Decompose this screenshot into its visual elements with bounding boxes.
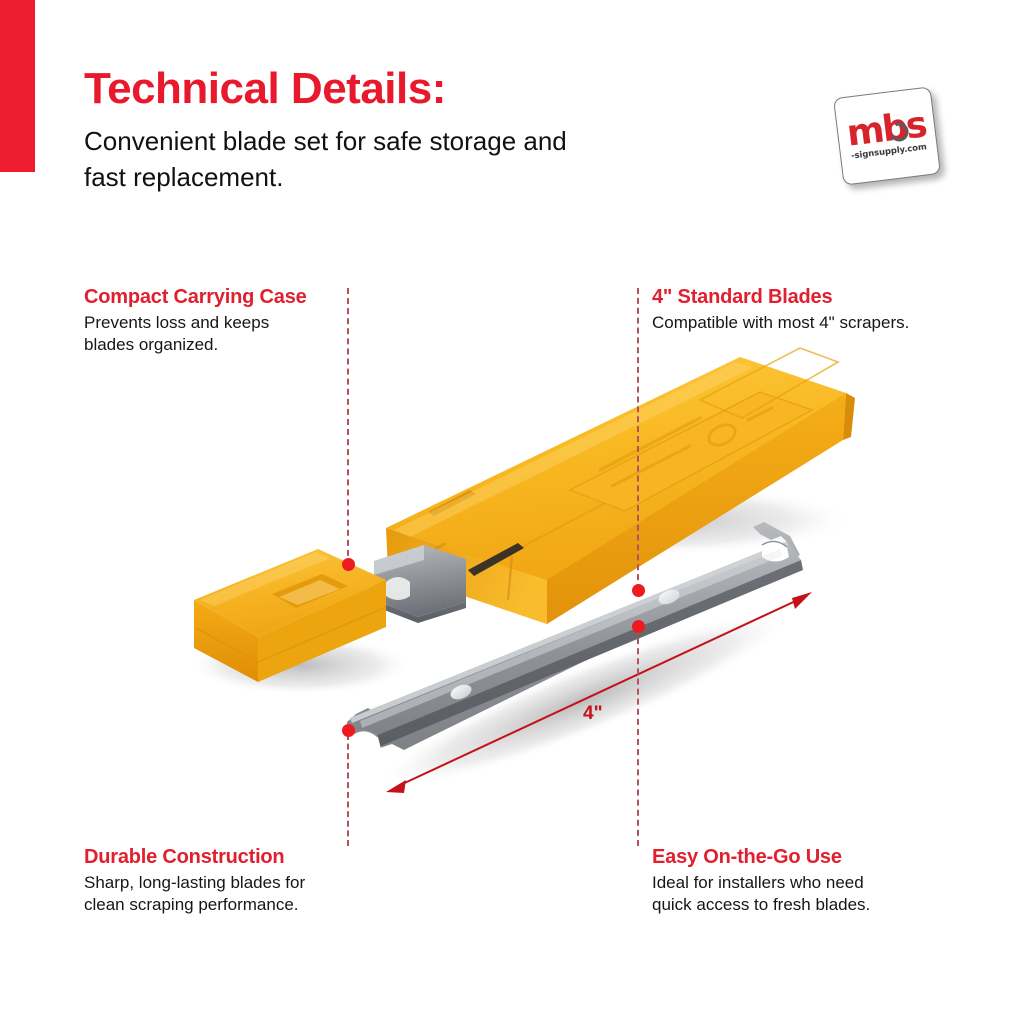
logo-inner: mbs -signsupply.com [833,86,941,185]
dispenser-slider-slot [468,543,524,576]
cap-front-face [258,580,386,682]
dispenser-emboss-frame [700,348,838,418]
callout-body-durable-construction: Sharp, long-lasting blades for clean scr… [84,872,354,917]
blade-sheen [360,549,782,728]
cap-left-face [194,600,258,682]
hotspot-dot-carrying-case [342,558,355,571]
dispenser-top-face [386,357,846,580]
blade-dispenser-case [386,348,855,624]
blade-in-dispenser [374,545,466,623]
infographic-canvas: Technical Details: Convenient blade set … [0,0,1024,1024]
header: Technical Details: Convenient blade set … [84,66,784,196]
callout-body-on-the-go-use: Ideal for installers who need quick acce… [652,872,952,917]
inner-blade-edge [374,600,466,623]
hotspot-dot-blade-lower [632,620,645,633]
blade-shadow [364,584,807,816]
cap-recess-inner [279,580,340,605]
callout-title-durable-construction: Durable Construction [84,846,354,869]
blade-main-face [350,541,801,740]
dimension-label: 4" [583,703,603,725]
dimension-arrow-head-right [792,592,812,609]
cap-shadow [188,635,412,695]
inner-blade-notch [386,577,410,600]
callout-body-standard-blades: Compatible with most 4" scrapers. [652,312,962,334]
blade-hole-right [656,587,681,607]
inner-blade-top [374,545,424,575]
dispenser-embossed-text [600,408,772,486]
blade-notch-left-outline [353,731,378,737]
cap-top-face [194,549,386,637]
callout-title-standard-blades: 4" Standard Blades [652,286,962,309]
leader-line-durable-construction [347,734,349,846]
dispenser-slot-top [428,490,476,516]
cap-highlight [200,552,330,606]
brand-logo-card[interactable]: mbs -signsupply.com [833,86,941,185]
dispenser-far-end [843,393,855,440]
logo-wordmark: mbs [845,111,927,150]
inner-blade-body [374,545,466,617]
dispenser-shadow [425,484,855,556]
dimension-arrow [386,592,812,793]
dispenser-embossed-panel [570,392,812,511]
callout-on-the-go-use: Easy On-the-Go Use Ideal for installers … [652,846,952,917]
leader-line-standard-blades [637,288,639,590]
dispenser-front-face [388,393,846,624]
blade-top-chamfer [350,541,788,723]
dimension-arrow-head-left [386,780,406,793]
leader-line-on-the-go-use [637,628,639,846]
cap-seam [196,607,386,662]
scraper-blade [347,522,803,753]
callout-title-on-the-go-use: Easy On-the-Go Use [652,846,952,869]
callout-standard-blades: 4" Standard Blades Compatible with most … [652,286,962,334]
page-title: Technical Details: [84,66,784,112]
dispenser-brand-emboss [412,544,448,572]
dispenser-cap [194,549,386,682]
page-subtitle: Convenient blade set for safe storage an… [84,124,604,196]
callout-durable-construction: Durable Construction Sharp, long-lasting… [84,846,354,917]
blade-body [347,522,800,750]
dispenser-seam-front [508,556,512,600]
hotspot-dot-blade-tip [342,724,355,737]
blade-notch-right-outline [762,541,787,547]
hotspot-dot-blade-upper [632,584,645,597]
blade-hole-left [448,682,473,702]
blade-notch-right [762,541,789,561]
accent-bar [0,0,35,172]
dispenser-end-face [386,528,547,624]
callout-compact-carrying-case: Compact Carrying Case Prevents loss and … [84,286,354,357]
dispenser-top-highlight [394,362,752,537]
dimension-arrow-line [396,598,802,787]
callout-body-compact-carrying-case: Prevents loss and keeps blades organized… [84,312,354,357]
callout-title-compact-carrying-case: Compact Carrying Case [84,286,354,309]
blade-notch-left [353,731,381,754]
cap-recess [272,574,348,608]
